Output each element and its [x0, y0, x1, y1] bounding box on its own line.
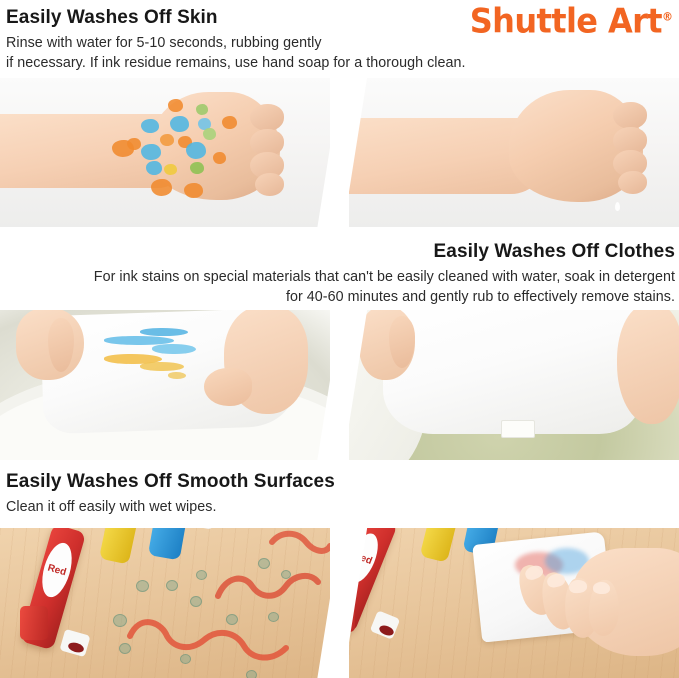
knuckle	[613, 102, 647, 129]
ink-dot	[168, 99, 183, 112]
photo-row-surfaces: Red	[0, 528, 679, 678]
section-clothes-text: Easily Washes Off Clothes For ink stains…	[0, 240, 679, 307]
water-droplet	[615, 202, 620, 211]
ink-dot	[196, 104, 208, 115]
ink-dot	[246, 670, 257, 678]
photo-markers-ink-on-table: Red	[0, 528, 330, 678]
photo-clean-shirt-in-basin	[349, 310, 679, 460]
ink-dot	[268, 612, 279, 622]
ink-dot	[119, 643, 131, 654]
section-clothes-heading: Easily Washes Off Clothes	[0, 240, 675, 263]
thumb	[204, 368, 252, 406]
white-shirt	[383, 310, 639, 434]
ink-dot	[258, 558, 270, 569]
ink-dot	[196, 570, 207, 580]
ink-dot	[141, 144, 161, 160]
section-skin-text: Easily Washes Off Skin Rinse with water …	[0, 6, 679, 73]
ink-stain-blue	[140, 328, 188, 336]
ink-dot	[281, 570, 291, 579]
ink-stain-blue	[152, 344, 196, 354]
section-skin-body-line-1: Rinse with water for 5-10 seconds, rubbi…	[0, 34, 679, 54]
ink-dot	[170, 116, 189, 132]
ink-dot	[164, 164, 177, 175]
ink-dot	[141, 119, 159, 133]
photo-clean-washed-hand	[349, 78, 679, 227]
ink-dot	[186, 142, 206, 159]
section-surfaces-body-line-1: Clean it off easily with wet wipes.	[0, 498, 679, 518]
section-skin-body-line-2: if necessary. If ink residue remains, us…	[0, 54, 679, 74]
ink-dot	[203, 128, 216, 140]
knuckle	[255, 173, 284, 196]
ink-dot	[151, 179, 172, 196]
ink-dot	[160, 134, 174, 146]
ink-dot	[180, 654, 191, 664]
ink-dot	[136, 580, 149, 592]
fist	[509, 90, 643, 202]
ink-dot	[146, 161, 162, 175]
knuckle	[250, 104, 284, 131]
photo-row-clothes	[0, 310, 679, 460]
shirt-care-tag	[501, 420, 535, 438]
ink-stain-yellow	[140, 362, 184, 371]
section-clothes-body-line-1: For ink stains on special materials that…	[0, 268, 675, 288]
red-ink-squiggles	[0, 528, 330, 678]
ink-dot	[112, 140, 134, 157]
ink-stain-yellow	[168, 372, 186, 379]
photo-hand-with-ink-dots	[0, 78, 330, 227]
ink-dot	[222, 116, 237, 129]
section-clothes-body-line-2: for 40-60 minutes and gently rub to effe…	[0, 288, 675, 308]
fingernail	[593, 582, 610, 595]
product-feature-page: Shuttle Art® Easily Washes Off Skin Rins…	[0, 0, 679, 678]
ink-dot	[166, 580, 178, 591]
ink-dot	[213, 152, 226, 164]
photo-wiping-with-wet-wipe: Red	[349, 528, 679, 678]
yellow-marker	[420, 528, 459, 563]
knuckle	[618, 171, 647, 194]
ink-dot	[190, 596, 202, 607]
ink-dot	[184, 183, 203, 198]
section-surfaces-heading: Easily Washes Off Smooth Surfaces	[0, 470, 679, 493]
ink-dot	[190, 162, 204, 174]
hand-right-grip	[617, 310, 679, 424]
photo-stained-shirt-in-basin	[0, 310, 330, 460]
ink-dot	[226, 614, 238, 625]
section-surfaces-text: Easily Washes Off Smooth Surfaces Clean …	[0, 470, 679, 518]
ink-dot	[113, 614, 127, 627]
photo-row-skin	[0, 78, 679, 227]
section-skin-heading: Easily Washes Off Skin	[0, 6, 679, 29]
